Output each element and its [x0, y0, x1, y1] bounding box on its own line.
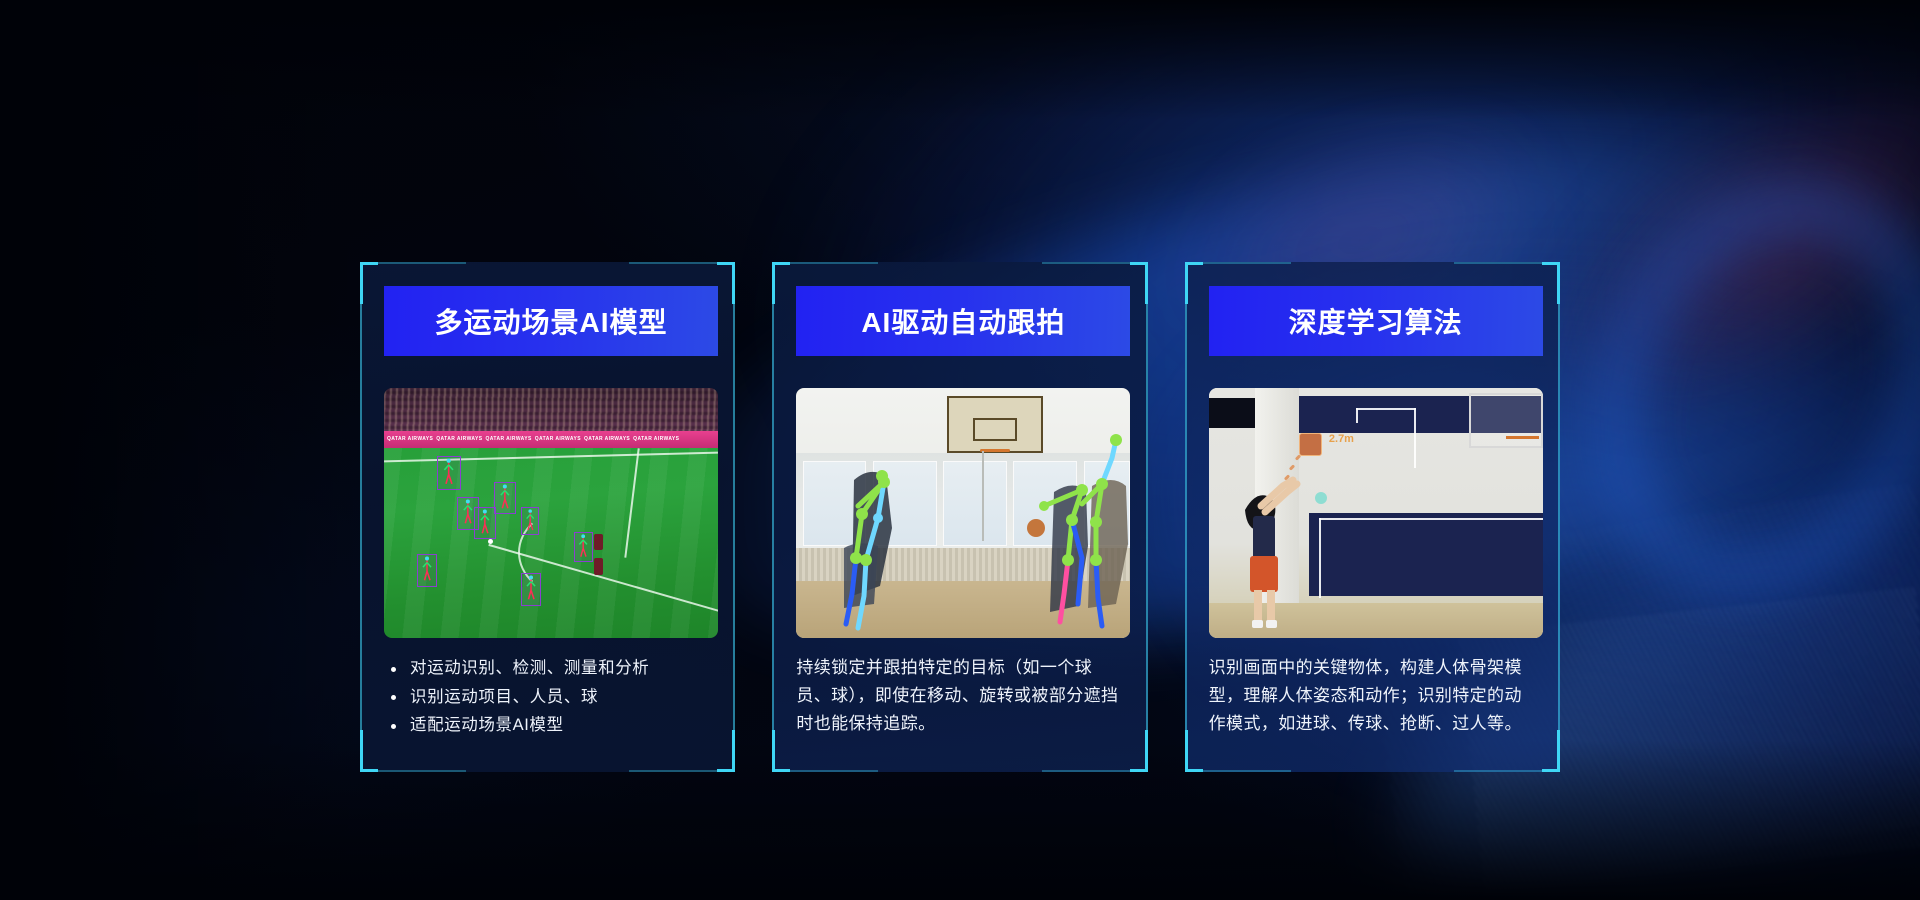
undetected-player — [594, 534, 603, 550]
player-jersey — [1253, 516, 1275, 560]
pose-skeleton — [522, 508, 538, 535]
detection-box — [494, 482, 516, 514]
undetected-player — [594, 558, 603, 575]
pose-skeleton — [418, 555, 436, 585]
soccer-scene: QATAR AIRWAYS QATAR AIRWAYS QATAR AIRWAY… — [384, 388, 718, 638]
feature-card-ai-auto-tracking[interactable]: AI驱动自动跟拍 — [772, 262, 1147, 772]
card-body-text: 持续锁定并跟拍特定的目标（如一个球员、球），即使在移动、旋转或被部分遮挡时也能保… — [796, 654, 1123, 738]
player-shoe-right — [1266, 620, 1277, 628]
card-title-bar: AI驱动自动跟拍 — [796, 286, 1130, 356]
detection-box — [437, 456, 460, 490]
pose-skeleton — [575, 533, 591, 561]
card-media-soccer-detection: QATAR AIRWAYS QATAR AIRWAYS QATAR AIRWAY… — [384, 388, 718, 638]
card-title-bar: 深度学习算法 — [1209, 286, 1543, 356]
player-leg-right — [1267, 590, 1275, 622]
shooting-scene: 2.7m — [1209, 388, 1543, 638]
detection-box — [521, 507, 539, 536]
card-title-text: 深度学习算法 — [1289, 301, 1463, 341]
feature-bullet-list: 对运动识别、检测、测量和分析 识别运动项目、人员、球 适配运动场景AI模型 — [384, 654, 711, 740]
card-title-bar: 多运动场景AI模型 — [384, 286, 718, 356]
pitch-line-top — [384, 451, 718, 462]
detection-box — [417, 554, 437, 586]
led-board-text-4: QATAR AIRWAYS — [532, 436, 581, 442]
feature-description: 识别画面中的关键物体，构建人体骨架模型，理解人体姿态和动作；识别特定的动作模式，… — [1209, 654, 1536, 738]
player-shoe-left — [1252, 620, 1263, 628]
feature-card-deep-learning[interactable]: 深度学习算法 2.7m — [1185, 262, 1560, 772]
led-board-text-6: QATAR AIRWAYS — [630, 436, 679, 442]
pose-skeleton — [438, 457, 459, 489]
pose-skeleton — [495, 483, 515, 513]
feature-card-sports-ai-model[interactable]: 多运动场景AI模型 QATAR AIRWAYS QATAR AIRWAYS QA… — [360, 262, 735, 772]
detection-box — [574, 532, 592, 562]
detection-box — [521, 573, 541, 605]
pitch-line-vertical — [624, 448, 639, 558]
pose-skeleton — [475, 508, 495, 538]
list-item: 识别运动项目、人员、球 — [384, 683, 711, 712]
led-board-text-2: QATAR AIRWAYS — [433, 436, 482, 442]
player-leg-left — [1254, 590, 1262, 622]
basketball — [1027, 519, 1045, 537]
stadium-crowd — [384, 388, 718, 436]
card-body-text: 识别画面中的关键物体，构建人体骨架模型，理解人体姿态和动作；识别特定的动作模式，… — [1209, 654, 1536, 738]
card-media-basketball-pose — [796, 388, 1130, 638]
led-board-text-3: QATAR AIRWAYS — [482, 436, 531, 442]
card-title-text: AI驱动自动跟拍 — [861, 301, 1065, 341]
feature-description: 持续锁定并跟拍特定的目标（如一个球员、球），即使在移动、旋转或被部分遮挡时也能保… — [796, 654, 1123, 738]
player-overlay — [1209, 388, 1543, 638]
led-advertising-board: QATAR AIRWAYS QATAR AIRWAYS QATAR AIRWAY… — [384, 431, 718, 449]
list-item: 对运动识别、检测、测量和分析 — [384, 654, 711, 683]
feature-card-row: 多运动场景AI模型 QATAR AIRWAYS QATAR AIRWAYS QA… — [360, 262, 1560, 772]
background-vignette-left — [0, 0, 360, 900]
detection-box — [474, 507, 496, 539]
card-body-text: 对运动识别、检测、测量和分析 识别运动项目、人员、球 适配运动场景AI模型 — [384, 654, 711, 740]
tracked-marker — [1315, 492, 1327, 504]
player-shorts — [1250, 556, 1278, 592]
gym-scene — [796, 388, 1130, 638]
card-title-text: 多运动场景AI模型 — [434, 301, 667, 341]
list-item: 适配运动场景AI模型 — [384, 711, 711, 740]
pose-skeleton — [522, 574, 540, 604]
led-board-text: QATAR AIRWAYS — [384, 436, 433, 442]
pose-skeleton-overlay — [796, 388, 1130, 638]
led-board-text-5: QATAR AIRWAYS — [581, 436, 630, 442]
card-media-shot-trajectory: 2.7m — [1209, 388, 1543, 638]
soccer-pitch — [384, 448, 718, 638]
